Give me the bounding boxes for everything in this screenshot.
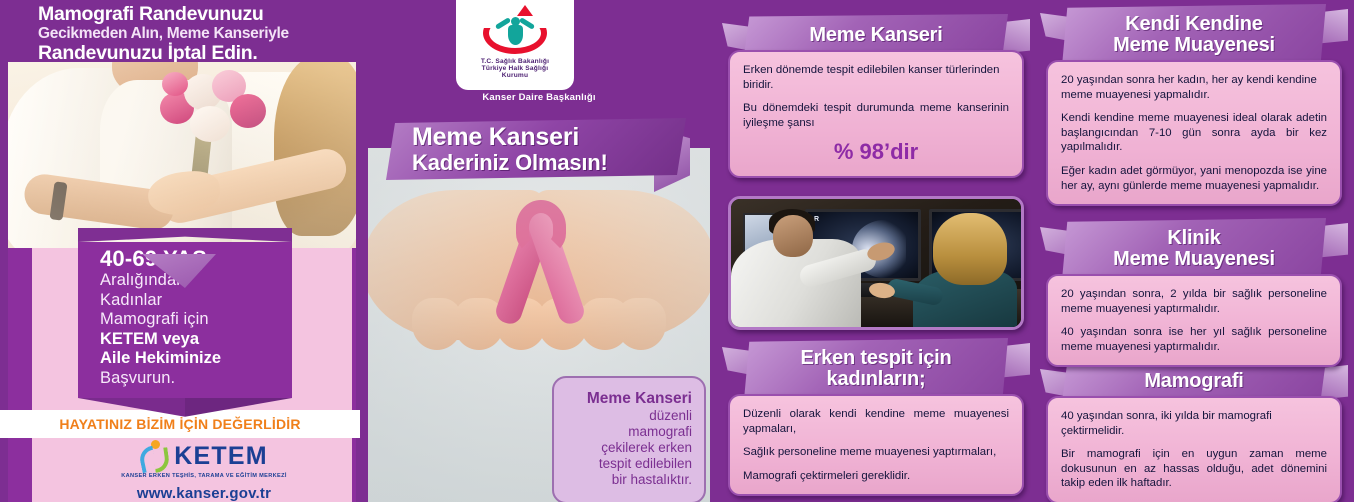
- banner-line-4: Mamografi için: [100, 310, 292, 330]
- card-title: Mamografi: [1144, 371, 1243, 392]
- headline-line-2: Gecikmeden Alın, Meme Kanseriyle: [38, 25, 352, 43]
- left-headline-block: Mamografi Randevunuzu Gecikmeden Alın, M…: [0, 0, 360, 62]
- ketem-website-url[interactable]: www.kanser.gov.tr: [94, 485, 314, 502]
- card-mamografi: Mamografi 40 yaşından sonra, iki yılda b…: [1046, 360, 1342, 502]
- ministry-line-1: T.C. Sağlık Bakanlığı: [481, 58, 549, 65]
- ministry-line-3: Kurumu: [502, 72, 528, 79]
- card-header-banner: Meme Kanseri: [722, 14, 1030, 56]
- photo-patient-hair: [933, 213, 1007, 285]
- note-line-3: çekilerek erken: [566, 440, 692, 456]
- banner-line-3: Kadınlar: [100, 291, 292, 311]
- card-paragraph: 40 yaşından sonra, iki yılda bir mamogra…: [1061, 409, 1327, 438]
- ketem-wordmark: KETEM: [174, 443, 268, 469]
- headline-line-3: Randevunuzu İptal Edin.: [38, 43, 352, 64]
- mammogram-consultation-photo: R L: [728, 196, 1024, 330]
- card-paragraph: 20 yaşından sonra her kadın, her ay kend…: [1061, 73, 1327, 102]
- card-body: Düzenli olarak kendi kendine meme muayen…: [728, 394, 1024, 496]
- banner-line-6: Aile Hekiminize: [100, 349, 292, 369]
- note-line-1: düzenli: [566, 408, 692, 424]
- pink-right-stripe: [352, 248, 356, 414]
- card-paragraph: Kendi kendine meme muayenesi ideal olara…: [1061, 111, 1327, 155]
- card-kendi-kendine-muayene: Kendi Kendine Meme Muayenesi 20 yaşından…: [1046, 4, 1342, 206]
- card-paragraph: Eğer kadın adet görmüyor, yani menopozda…: [1061, 164, 1327, 193]
- headline-line-1: Mamografi Randevunuzu: [38, 4, 352, 25]
- hero-banner: Meme Kanseri Kaderiniz Olmasın!: [386, 118, 686, 188]
- banner-line-7: Başvurun.: [100, 369, 292, 389]
- note-line-2: mamografi: [566, 424, 692, 440]
- ketem-figure-icon: [140, 440, 170, 472]
- photo-doctor-head: [773, 215, 813, 257]
- banner-top-notch: [78, 228, 292, 242]
- left-footer: KETEM KANSER ERKEN TEŞHİS, TARAMA VE EĞİ…: [8, 438, 356, 502]
- card-meme-kanseri: Meme Kanseri Erken dönemde tespit edileb…: [728, 14, 1024, 178]
- survival-rate-highlight: % 98’dir: [743, 139, 1009, 165]
- hero-banner-text: Meme Kanseri Kaderiniz Olmasın!: [412, 124, 608, 175]
- note-line-4: tespit edilebilen: [566, 456, 692, 472]
- age-range-banner: 40-69 YAŞ Aralığındaki Kadınlar Mamograf…: [78, 228, 292, 424]
- card-paragraph: 20 yaşından sonra, 2 yılda bir sağlık pe…: [1061, 287, 1327, 316]
- card-title-line-1: Klinik: [1167, 228, 1220, 249]
- infographic-poster: Mamografi Randevunuzu Gecikmeden Alın, M…: [0, 0, 1354, 502]
- card-title-line-2: Meme Muayenesi: [1113, 249, 1275, 270]
- card-header-banner: Kendi Kendine Meme Muayenesi: [1040, 4, 1348, 66]
- card-paragraph: Bu dönemdeki tespit durumunda meme kanse…: [743, 101, 1009, 130]
- hero-line-2: Kaderiniz Olmasın!: [412, 151, 608, 175]
- card-title-line-1: Kendi Kendine: [1125, 14, 1262, 35]
- note-line-5: bir hastalıktır.: [566, 472, 692, 488]
- card-header-banner: Mamografi: [1040, 360, 1348, 402]
- card-title-line-1: Erken tespit için: [800, 348, 951, 369]
- footer-right-stripe: [352, 438, 356, 502]
- cards-column-right: Kendi Kendine Meme Muayenesi 20 yaşından…: [1036, 0, 1354, 502]
- footer-left-stripe: [8, 438, 32, 502]
- breast-cancer-note-box: Meme Kanseri düzenli mamografi çekilerek…: [552, 376, 706, 502]
- card-header-banner: Klinik Meme Muayenesi: [1040, 218, 1348, 280]
- ketem-subtitle: KANSER ERKEN TEŞHİS, TARAMA VE EĞİTİM ME…: [94, 473, 314, 479]
- ministry-line-2: Türkiye Halk Sağlığı: [482, 65, 549, 72]
- card-body: Erken dönemde tespit edilebilen kanser t…: [728, 50, 1024, 178]
- card-title-line-2: kadınların;: [827, 369, 926, 390]
- couple-photo: [8, 62, 356, 248]
- card-paragraph: Sağlık personeline meme muayenesi yaptır…: [743, 445, 1009, 460]
- middle-panel: T.C. Sağlık Bakanlığı Türkiye Halk Sağlı…: [368, 0, 710, 502]
- card-paragraph: Düzenli olarak kendi kendine meme muayen…: [743, 407, 1009, 436]
- information-cards-panel: Meme Kanseri Erken dönemde tespit edileb…: [718, 0, 1354, 502]
- card-header-banner: Erken tespit için kadınların;: [722, 338, 1030, 400]
- card-body: 40 yaşından sonra, iki yılda bir mamogra…: [1046, 396, 1342, 502]
- ministry-of-health-logo: T.C. Sağlık Bakanlığı Türkiye Halk Sağlı…: [456, 0, 574, 90]
- card-body: 20 yaşından sonra her kadın, her ay kend…: [1046, 60, 1342, 206]
- card-paragraph: 40 yaşından sonra ise her yıl sağlık per…: [1061, 325, 1327, 354]
- ketem-logo-block: KETEM KANSER ERKEN TEŞHİS, TARAMA VE EĞİ…: [94, 440, 314, 502]
- banner-bottom-fold: [78, 398, 292, 424]
- card-body: 20 yaşından sonra, 2 yılda bir sağlık pe…: [1046, 274, 1342, 367]
- ministry-emblem-icon: [481, 6, 549, 56]
- card-paragraph: Mamografi çektirmeleri gereklidir.: [743, 469, 1009, 484]
- photo-overlay: [8, 62, 356, 248]
- card-title-line-2: Meme Muayenesi: [1113, 35, 1275, 56]
- card-paragraph: Bir mamografi için en uygun zaman meme d…: [1061, 447, 1327, 491]
- ministry-department-caption: Kanser Daire Başkanlığı: [368, 92, 710, 103]
- card-erken-tespit: Erken tespit için kadınların; Düzenli ol…: [728, 338, 1024, 496]
- card-title: Meme Kanseri: [809, 25, 942, 46]
- card-paragraph: Erken dönemde tespit edilebilen kanser t…: [743, 63, 1009, 92]
- card-klinik-muayene: Klinik Meme Muayenesi 20 yaşından sonra,…: [1046, 218, 1342, 367]
- hero-line-1: Meme Kanseri: [412, 124, 608, 151]
- note-title: Meme Kanseri: [566, 390, 692, 408]
- left-poster-panel: Mamografi Randevunuzu Gecikmeden Alın, M…: [0, 0, 360, 502]
- banner-line-5: KETEM veya: [100, 330, 292, 350]
- cards-column-left: Meme Kanseri Erken dönemde tespit edileb…: [718, 0, 1036, 502]
- pink-left-stripe: [8, 248, 32, 414]
